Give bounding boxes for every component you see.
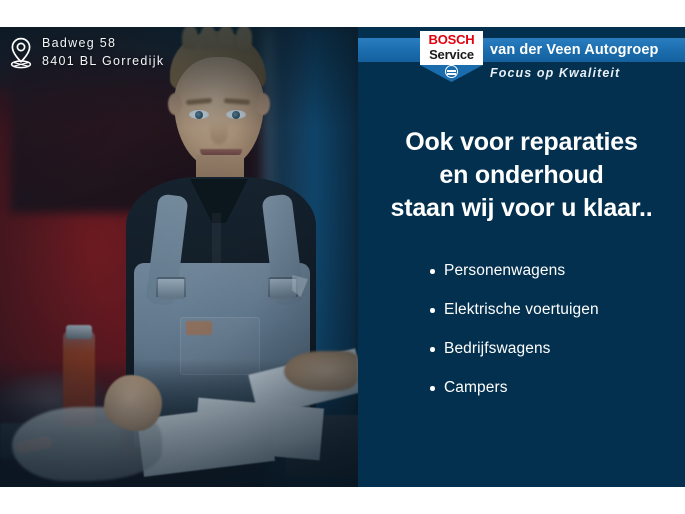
vignette-overlay xyxy=(0,27,358,487)
logo-plate: BOSCH Service xyxy=(420,31,483,65)
bosch-wordmark: BOSCH xyxy=(420,32,483,47)
address-lines: Badweg 58 8401 BL Gorredijk xyxy=(42,35,164,70)
address-street: Badweg 58 xyxy=(42,35,164,52)
list-item: Campers xyxy=(430,378,680,398)
address-overlay: Badweg 58 8401 BL Gorredijk xyxy=(9,35,164,70)
services-list: Personenwagens Elektrische voertuigen Be… xyxy=(430,261,680,417)
content-panel: BOSCH Service van der Veen Autogroep Foc… xyxy=(358,27,685,487)
bosch-armature-icon xyxy=(445,65,458,78)
headline-line-1: Ook voor reparaties xyxy=(358,126,685,159)
headline-line-2: en onderhoud xyxy=(358,159,685,192)
bosch-service-logo[interactable]: BOSCH Service xyxy=(420,31,483,82)
headline-line-3: staan wij voor u klaar.. xyxy=(358,192,685,225)
list-item: Elektrische voertuigen xyxy=(430,300,680,320)
headline-block: Ook voor reparaties en onderhoud staan w… xyxy=(358,126,685,225)
garage-photo: Badweg 58 8401 BL Gorredijk xyxy=(0,27,358,487)
company-tagline: Focus op Kwaliteit xyxy=(490,65,620,82)
list-item: Personenwagens xyxy=(430,261,680,281)
location-pin-icon xyxy=(9,37,33,69)
list-item: Bedrijfswagens xyxy=(430,339,680,359)
advertisement-banner[interactable]: Badweg 58 8401 BL Gorredijk BOSCH Servic… xyxy=(0,27,685,487)
address-city: 8401 BL Gorredijk xyxy=(42,53,164,70)
service-wordmark: Service xyxy=(420,47,483,62)
company-name: van der Veen Autogroep xyxy=(490,39,658,61)
